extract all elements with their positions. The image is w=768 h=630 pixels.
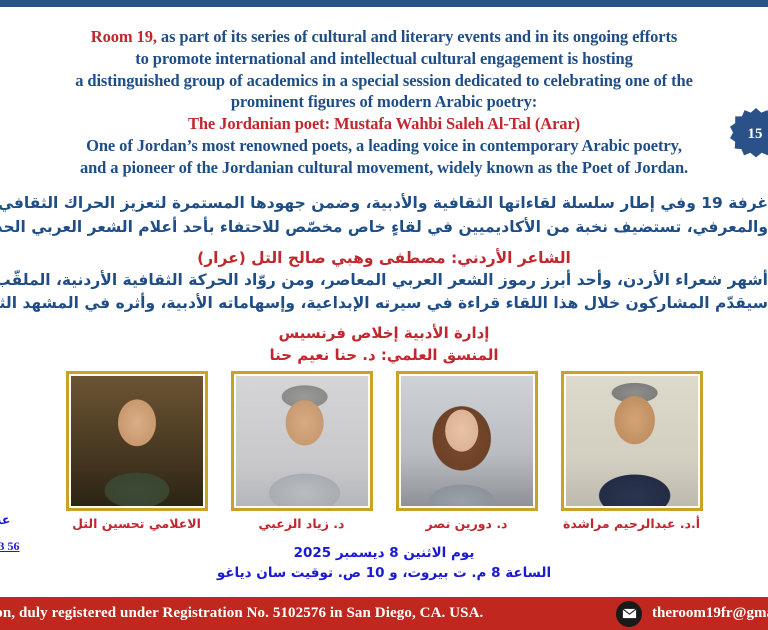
portrait-tahsin-al-tal bbox=[71, 376, 203, 506]
event-schedule-block: يوم الاثنين 8 ديسمبر 2025 الساعة 8 م. ت … bbox=[0, 544, 768, 583]
presenter-name: الاعلامي تحسين التل bbox=[66, 516, 208, 538]
presenter-name: أ.د. عبدالرحيم مراشدة bbox=[561, 516, 703, 538]
portrait-abdulrahim-marashdeh bbox=[566, 376, 698, 506]
english-line-3: a distinguished group of academics in a … bbox=[0, 70, 768, 92]
presenter-photo-strip bbox=[0, 371, 768, 511]
presenter-name: د. زياد الزعبي bbox=[231, 516, 373, 538]
presenter-photo-card bbox=[396, 371, 538, 511]
english-bio-line-1: One of Jordan’s most renowned poets, a l… bbox=[0, 135, 768, 157]
left-contact-block: عبد 56 0993 bbox=[0, 512, 46, 554]
english-line-1-rest: as part of its series of cultural and li… bbox=[157, 27, 677, 46]
english-line-1: Room 19, as part of its series of cultur… bbox=[0, 26, 768, 48]
footer-email-link[interactable]: theroom19fr@gmail.com bbox=[652, 605, 768, 622]
footer-bar: Cultural Association, duly registered un… bbox=[0, 597, 768, 630]
english-poet-name: The Jordanian poet: Mustafa Wahbi Saleh … bbox=[0, 113, 768, 135]
event-poster: Room 19, as part of its series of cultur… bbox=[0, 0, 768, 630]
portrait-ziad-al-zoubi bbox=[236, 376, 368, 506]
english-bio-line-2: and a pioneer of the Jordanian cultural … bbox=[0, 157, 768, 179]
arabic-bio-line-2: سيقدّم المشاركون خلال هذا اللقاء قراءة ف… bbox=[0, 292, 768, 314]
portrait-doreen-nasr bbox=[401, 376, 533, 506]
contact-phone-link[interactable]: 56 0993 bbox=[0, 539, 46, 554]
presenter-name: د. دورين نصر bbox=[396, 516, 538, 538]
english-line-4: prominent figures of modern Arabic poetr… bbox=[0, 91, 768, 113]
arabic-intro-line-2: والمعرفي، تستضيف نخبة من الأكاديميين في … bbox=[0, 216, 768, 240]
footer-registration-text: Cultural Association, duly registered un… bbox=[0, 605, 483, 622]
credit-line-coordinator: المنسق العلمي: د. حنا نعيم حنا bbox=[0, 344, 768, 366]
arabic-poet-name: الشاعر الأردني: مصطفى وهبي صالح التل (عر… bbox=[0, 247, 768, 269]
presenter-photo-card bbox=[231, 371, 373, 511]
event-date: يوم الاثنين 8 ديسمبر 2025 bbox=[0, 544, 768, 564]
presenter-photo-card bbox=[561, 371, 703, 511]
arabic-bio-line-1: أشهر شعراء الأردن، وأحد أبرز رموز الشعر … bbox=[0, 269, 768, 291]
presenter-names-row: أ.د. عبدالرحيم مراشدة د. دورين نصر د. زي… bbox=[0, 516, 768, 538]
arabic-poet-block: الشاعر الأردني: مصطفى وهبي صالح التل (عر… bbox=[0, 247, 768, 314]
arabic-intro-line-1: غرفة 19 وفي إطار سلسلة لقاءاتها الثقافية… bbox=[0, 192, 768, 216]
organizer-credits-block: إدارة الأدبية إخلاص فرنسيس المنسق العلمي… bbox=[0, 322, 768, 366]
english-line-1-lead: Room 19, bbox=[91, 27, 157, 46]
english-line-2: to promote international and intellectua… bbox=[0, 48, 768, 70]
starburst-badge-label: 15 bbox=[748, 126, 765, 143]
presenter-photo-card bbox=[66, 371, 208, 511]
envelope-icon bbox=[616, 601, 642, 627]
top-accent-bar bbox=[0, 0, 768, 7]
english-header-block: Room 19, as part of its series of cultur… bbox=[0, 26, 768, 178]
arabic-intro-block: غرفة 19 وفي إطار سلسلة لقاءاتها الثقافية… bbox=[0, 192, 768, 239]
credit-line-administration: إدارة الأدبية إخلاص فرنسيس bbox=[0, 322, 768, 344]
contact-name: عبد bbox=[0, 512, 46, 527]
event-time: الساعة 8 م. ت بيروت، و 10 ص. توقيت سان د… bbox=[0, 564, 768, 584]
